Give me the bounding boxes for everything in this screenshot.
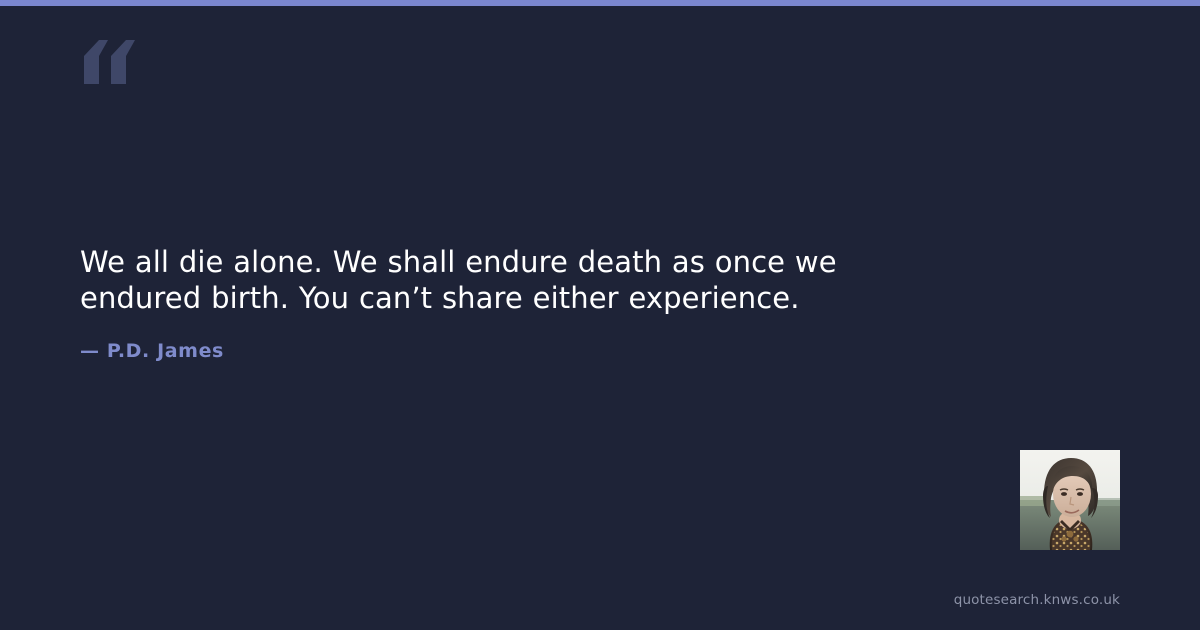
quote-card: We all die alone. We shall endure death … — [0, 0, 1200, 630]
quote-attribution: — P.D. James — [80, 340, 224, 362]
quote-text: We all die alone. We shall endure death … — [80, 244, 960, 316]
author-portrait — [1020, 450, 1120, 550]
author-name: P.D. James — [107, 340, 224, 362]
attribution-dash: — — [80, 340, 107, 362]
quote-block: We all die alone. We shall endure death … — [80, 244, 960, 316]
source-url: quotesearch.knws.co.uk — [954, 592, 1120, 608]
open-quote-icon — [80, 40, 140, 84]
top-accent-bar — [0, 0, 1200, 6]
